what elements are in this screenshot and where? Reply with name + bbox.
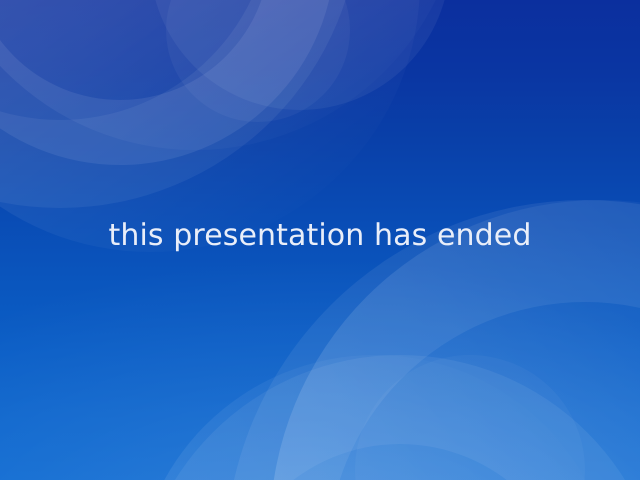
slide-message-container: this presentation has ended (0, 0, 640, 480)
presentation-ended-message: this presentation has ended (109, 221, 532, 251)
presentation-end-slide: this presentation has ended (0, 0, 640, 480)
